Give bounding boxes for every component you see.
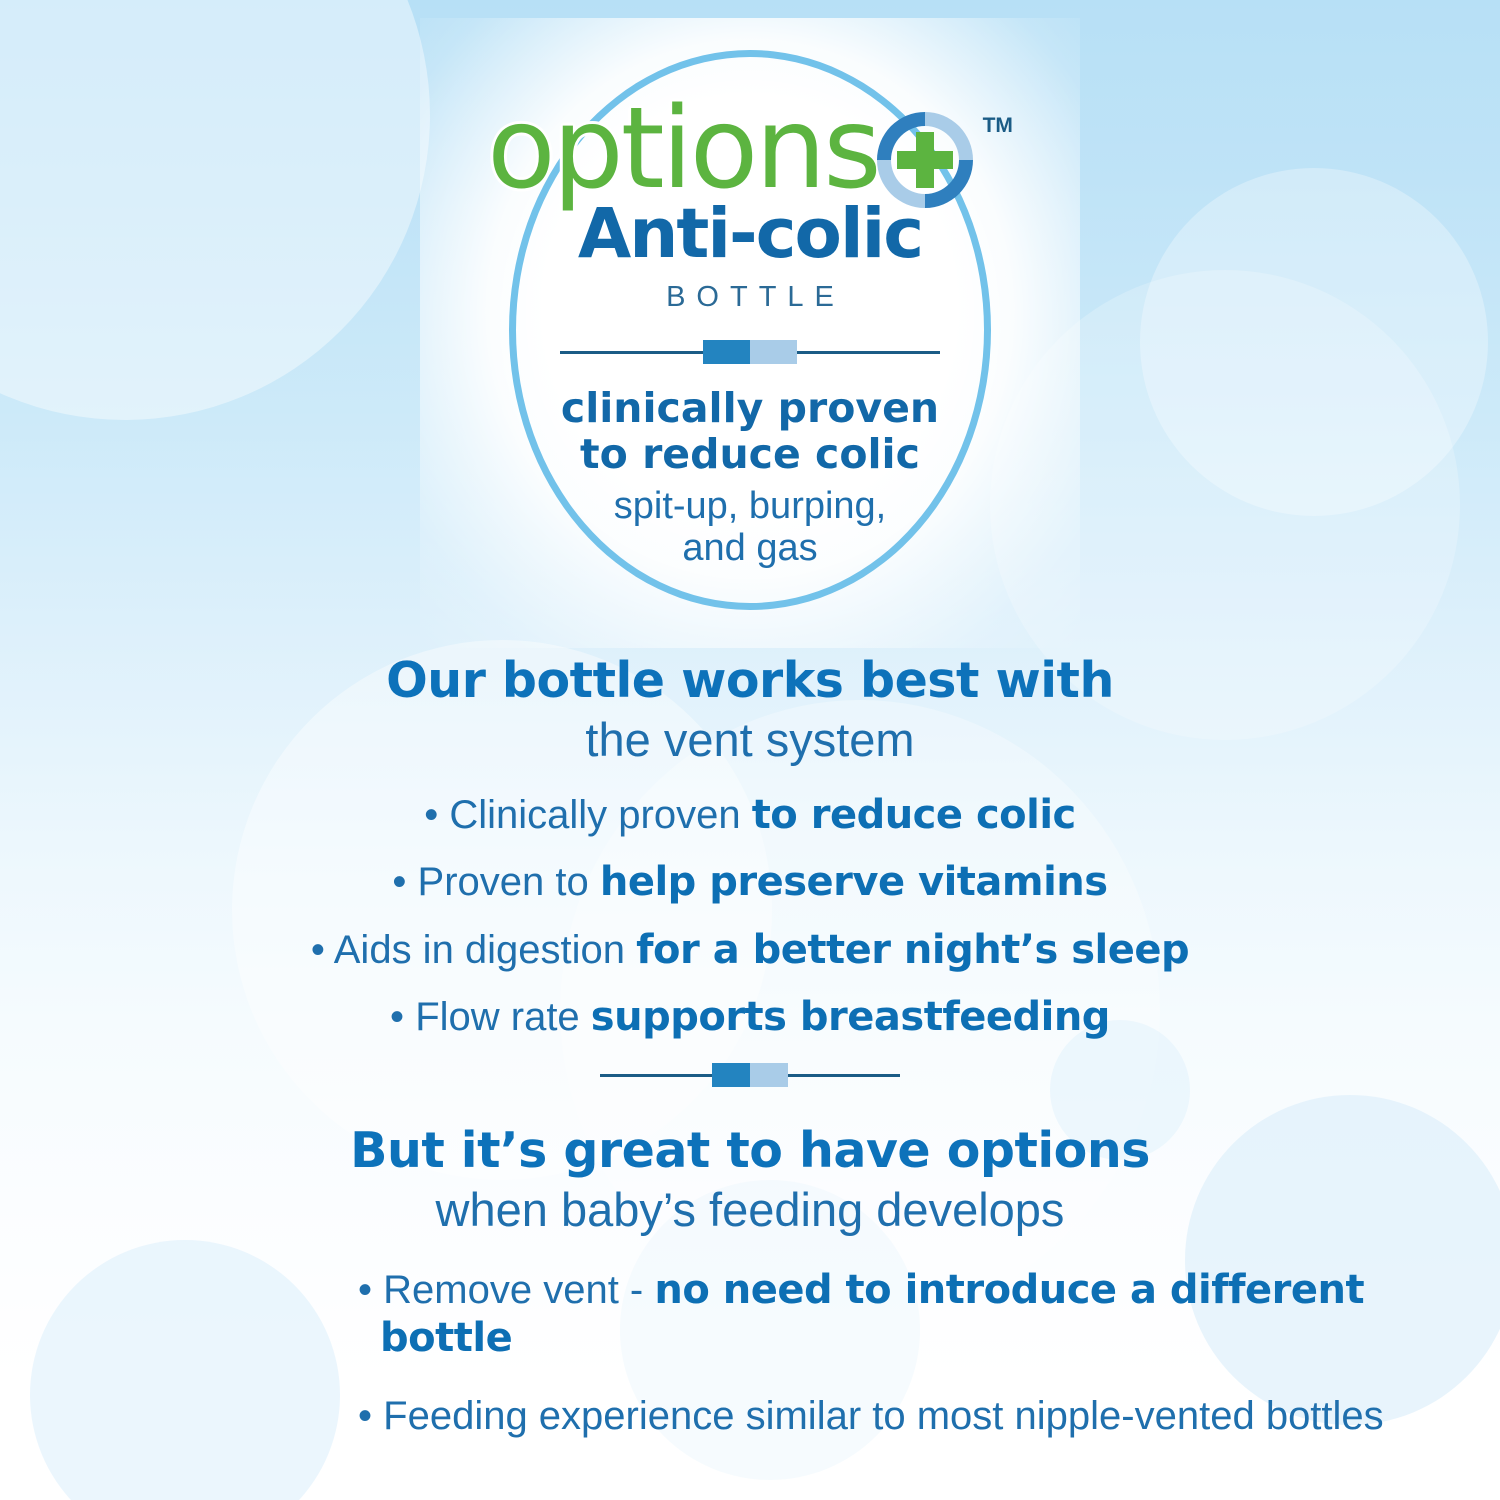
divider-block-light xyxy=(750,340,797,364)
badge-claim-line-1: clinically proven xyxy=(561,386,939,432)
background-bubble xyxy=(0,0,430,420)
bullet-text: Flow rate xyxy=(415,995,591,1039)
bullet-marker: • xyxy=(390,995,404,1039)
list-item: • Feeding experience similar to most nip… xyxy=(380,1392,1430,1440)
section-two-subheading: when baby’s feeding develops xyxy=(70,1184,1430,1237)
section-vent-system: Our bottle works best with the vent syst… xyxy=(70,655,1430,1041)
divider-block-light xyxy=(750,1063,788,1087)
bullet-marker: • xyxy=(424,793,438,837)
section-two-heading: But it’s great to have options xyxy=(70,1125,1430,1178)
section-one-bullet-list: • Clinically proven to reduce colic • Pr… xyxy=(70,793,1430,1041)
brand-wordmark: options xyxy=(487,98,879,201)
bullet-marker: • xyxy=(358,1394,372,1438)
badge-claim-line-2: to reduce colic xyxy=(561,432,939,478)
trademark-symbol: TM xyxy=(983,114,1013,138)
product-name: Anti-colic xyxy=(578,200,922,269)
bullet-text: Clinically proven xyxy=(449,793,751,837)
section-divider xyxy=(600,1063,900,1087)
list-item: • Flow rate supports breastfeeding xyxy=(70,995,1430,1041)
badge-claim-sub-line-2: and gas xyxy=(614,528,887,570)
bullet-text: Feeding experience similar to most nippl… xyxy=(383,1394,1384,1438)
bullet-text: Proven to xyxy=(418,860,600,904)
section-options: But it’s great to have options when baby… xyxy=(70,1125,1430,1441)
bullet-marker: • xyxy=(311,928,325,972)
bullet-emphasis: for a better night’s sleep xyxy=(636,927,1189,973)
badge-divider xyxy=(560,340,940,364)
bullet-emphasis: to reduce colic xyxy=(752,792,1076,838)
list-item: • Aids in digestion for a better night’s… xyxy=(70,928,1430,974)
list-item: • Remove vent - no need to introduce a d… xyxy=(380,1266,1430,1362)
product-type-label: BOTTLE xyxy=(666,281,845,314)
badge-claim: clinically proven to reduce colic xyxy=(561,386,939,478)
feature-content: Our bottle works best with the vent syst… xyxy=(0,655,1500,1470)
bullet-text: Aids in digestion xyxy=(334,928,636,972)
bullet-emphasis: help preserve vitamins xyxy=(600,859,1108,905)
bullet-text: Remove vent - xyxy=(383,1268,654,1312)
bullet-marker: • xyxy=(358,1268,372,1312)
list-item: • Clinically proven to reduce colic xyxy=(70,793,1430,839)
product-badge: options TM Anti-colic BOTTLE xyxy=(430,38,1070,628)
background-bubble xyxy=(1140,168,1488,516)
bullet-emphasis: supports breastfeeding xyxy=(591,994,1110,1040)
badge-claim-sub: spit-up, burping, and gas xyxy=(614,486,887,570)
divider-block-dark xyxy=(703,340,750,364)
section-two-bullet-list: • Remove vent - no need to introduce a d… xyxy=(70,1266,1430,1440)
divider-block-dark xyxy=(712,1063,750,1087)
badge-claim-sub-line-1: spit-up, burping, xyxy=(614,486,887,528)
section-one-subheading: the vent system xyxy=(70,714,1430,767)
bullet-marker: • xyxy=(392,860,406,904)
section-one-heading: Our bottle works best with xyxy=(70,655,1430,708)
list-item: • Proven to help preserve vitamins xyxy=(70,860,1430,906)
